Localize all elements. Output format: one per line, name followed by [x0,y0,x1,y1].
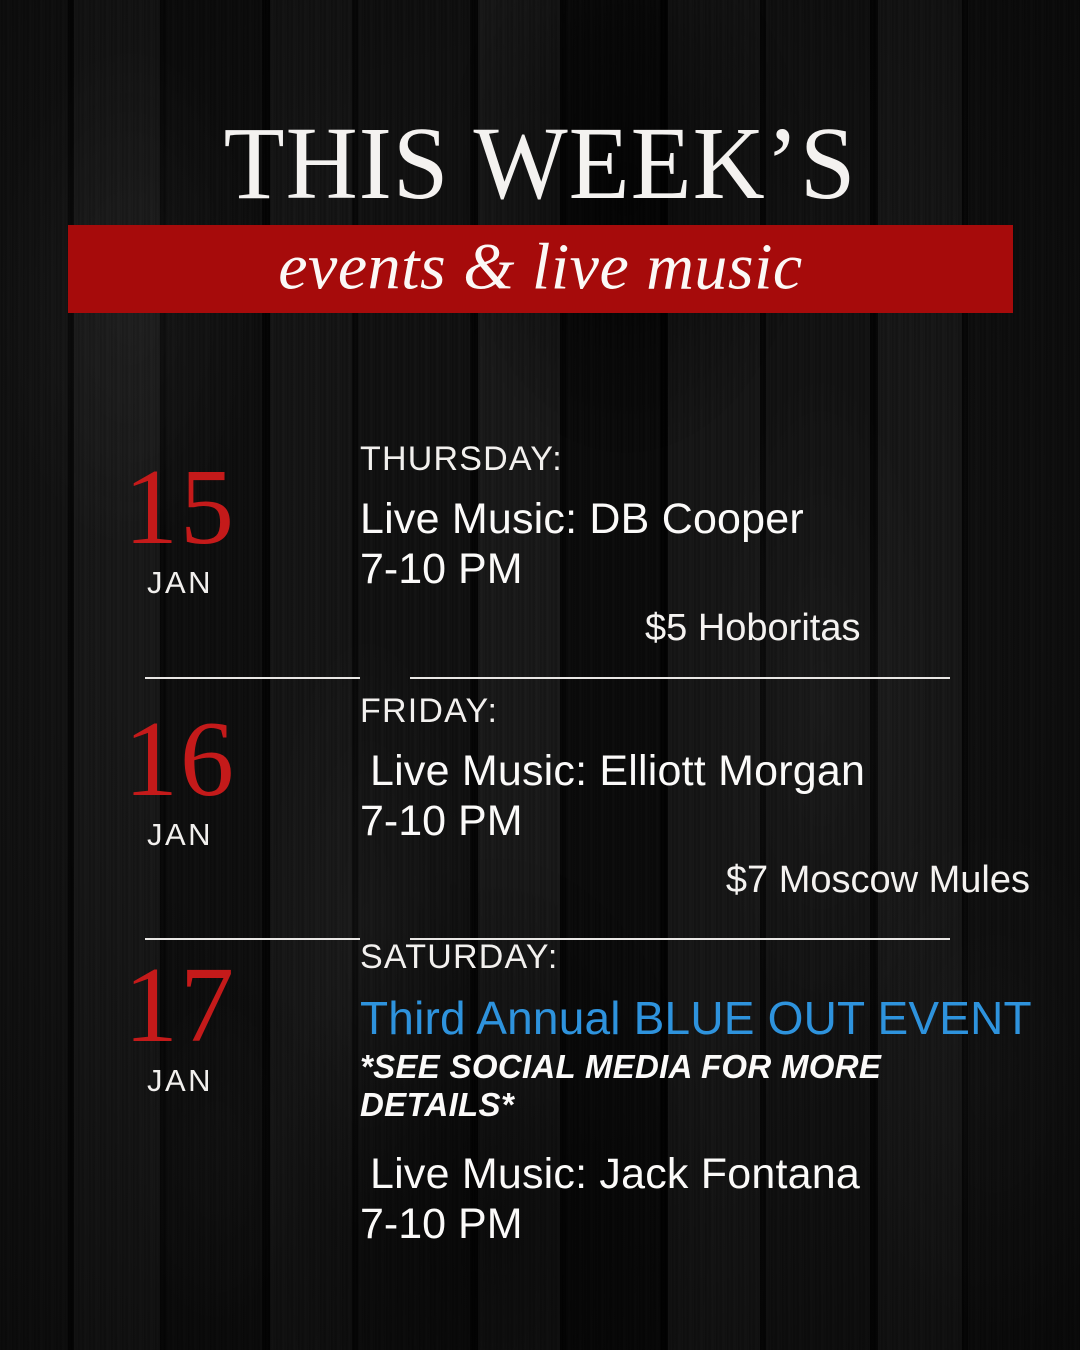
event-weekday-label: THURSDAY: [360,440,1040,479]
divider-info-2 [410,938,950,940]
event-row: 15 JAN THURSDAY: Live Music: DB Cooper 7… [0,440,1080,650]
event-month-label: JAN [0,1063,360,1099]
divider-date-2 [145,938,360,940]
subtitle-banner: events & live music [68,225,1013,313]
subtitle-text: events & live music [68,235,1013,301]
event-weekday-label: FRIDAY: [360,692,1040,731]
event-poster: THIS WEEK’S events & live music 15 JAN T… [0,0,1080,1350]
event-time: 7-10 PM [360,545,1040,595]
event-time: 7-10 PM [360,1200,1040,1250]
event-date-block: 16 JAN [0,692,360,853]
event-act-title: Live Music: Jack Fontana [360,1150,1040,1200]
event-drink-special: $5 Hoboritas [360,607,1040,650]
event-featured-title: Third Annual BLUE OUT EVENT [360,993,1040,1045]
events-schedule: 15 JAN THURSDAY: Live Music: DB Cooper 7… [0,440,1080,1250]
event-day-number: 15 [0,458,360,557]
event-details: THURSDAY: Live Music: DB Cooper 7-10 PM … [360,440,1080,650]
event-drink-special: $7 Moscow Mules [360,859,1040,902]
event-month-label: JAN [0,565,360,601]
event-day-number: 16 [0,710,360,809]
event-time: 7-10 PM [360,797,1040,847]
event-weekday-label: SATURDAY: [360,938,1040,977]
event-date-block: 17 JAN [0,938,360,1099]
event-month-label: JAN [0,817,360,853]
event-details: SATURDAY: Third Annual BLUE OUT EVENT *S… [360,938,1080,1250]
divider-date-1 [145,677,360,679]
event-date-block: 15 JAN [0,440,360,601]
event-row: 17 JAN SATURDAY: Third Annual BLUE OUT E… [0,938,1080,1250]
page-title: THIS WEEK’S [22,112,1059,216]
event-day-number: 17 [0,956,360,1055]
event-note: *SEE SOCIAL MEDIA FOR MORE DETAILS* [360,1048,1040,1124]
event-act-title: Live Music: DB Cooper [360,495,1040,545]
event-act-title: Live Music: Elliott Morgan [360,747,1040,797]
divider-info-1 [410,677,950,679]
event-details: FRIDAY: Live Music: Elliott Morgan 7-10 … [360,692,1080,902]
event-row: 16 JAN FRIDAY: Live Music: Elliott Morga… [0,692,1080,902]
